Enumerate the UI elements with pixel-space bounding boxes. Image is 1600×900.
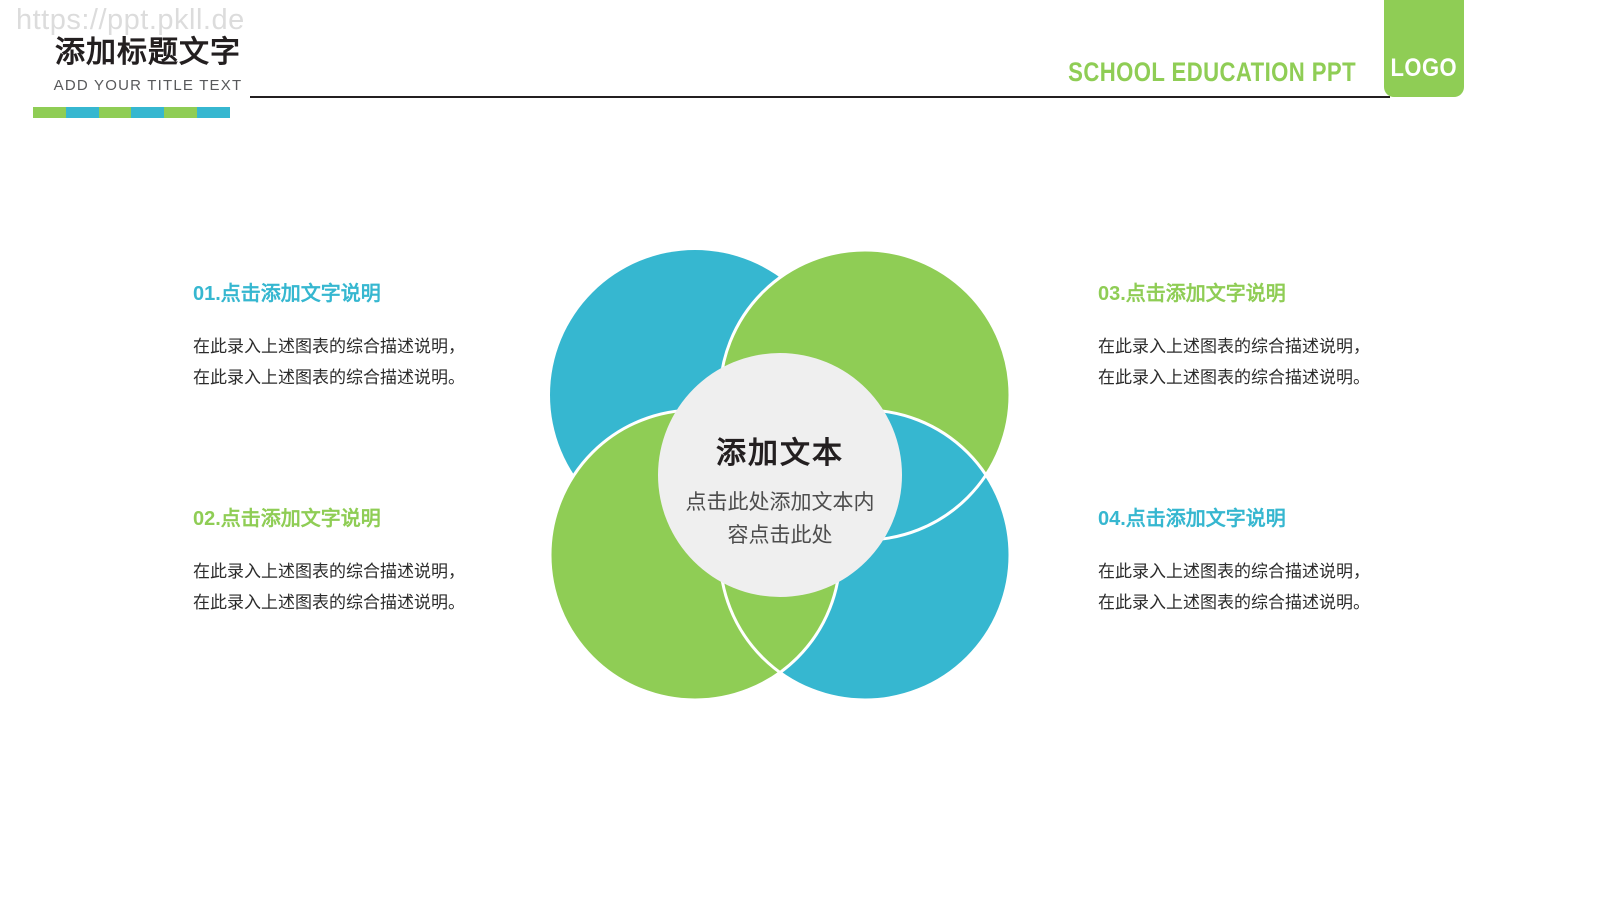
slide-header: 添加标题文字 ADD YOUR TITLE TEXT SCHOOL EDUCAT… xyxy=(0,0,1600,125)
info-item-01-body: 在此录入上述图表的综合描述说明， 在此录入上述图表的综合描述说明。 xyxy=(193,332,533,395)
page-subtitle: ADD YOUR TITLE TEXT xyxy=(33,77,263,94)
info-item-04-body-line1: 在此录入上述图表的综合描述说明， xyxy=(1098,557,1438,588)
color-bar-segment-4 xyxy=(131,107,164,118)
info-item-02-body: 在此录入上述图表的综合描述说明， 在此录入上述图表的综合描述说明。 xyxy=(193,557,533,620)
accent-color-bar xyxy=(33,107,230,118)
info-item-04-heading: 04.点击添加文字说明 xyxy=(1098,507,1438,531)
petal-diagram-svg xyxy=(520,230,1040,720)
info-item-02-body-line2: 在此录入上述图表的综合描述说明。 xyxy=(193,588,533,619)
logo-badge: LOGO xyxy=(1384,0,1464,97)
info-item-03-body: 在此录入上述图表的综合描述说明， 在此录入上述图表的综合描述说明。 xyxy=(1098,332,1438,395)
color-bar-segment-2 xyxy=(66,107,99,118)
info-item-01: 01.点击添加文字说明 在此录入上述图表的综合描述说明， 在此录入上述图表的综合… xyxy=(193,282,533,395)
info-item-01-body-line2: 在此录入上述图表的综合描述说明。 xyxy=(193,363,533,394)
title-block: 添加标题文字 ADD YOUR TITLE TEXT xyxy=(33,36,263,94)
four-petal-diagram xyxy=(520,230,1040,720)
header-divider-rule xyxy=(250,96,1390,98)
info-item-04: 04.点击添加文字说明 在此录入上述图表的综合描述说明， 在此录入上述图表的综合… xyxy=(1098,507,1438,620)
logo-label: LOGO xyxy=(1391,54,1458,83)
info-item-04-body: 在此录入上述图表的综合描述说明， 在此录入上述图表的综合描述说明。 xyxy=(1098,557,1438,620)
center-circle[interactable] xyxy=(658,353,902,597)
info-item-02-heading: 02.点击添加文字说明 xyxy=(193,507,533,531)
info-item-03-body-line1: 在此录入上述图表的综合描述说明， xyxy=(1098,332,1438,363)
color-bar-segment-5 xyxy=(164,107,197,118)
color-bar-segment-1 xyxy=(33,107,66,118)
info-item-02-body-line1: 在此录入上述图表的综合描述说明， xyxy=(193,557,533,588)
info-item-04-body-line2: 在此录入上述图表的综合描述说明。 xyxy=(1098,588,1438,619)
info-item-01-body-line1: 在此录入上述图表的综合描述说明， xyxy=(193,332,533,363)
info-item-02: 02.点击添加文字说明 在此录入上述图表的综合描述说明， 在此录入上述图表的综合… xyxy=(193,507,533,620)
info-item-03-heading: 03.点击添加文字说明 xyxy=(1098,282,1438,306)
color-bar-segment-6 xyxy=(197,107,230,118)
page-title: 添加标题文字 xyxy=(33,36,263,71)
info-item-03-body-line2: 在此录入上述图表的综合描述说明。 xyxy=(1098,363,1438,394)
info-item-03: 03.点击添加文字说明 在此录入上述图表的综合描述说明， 在此录入上述图表的综合… xyxy=(1098,282,1438,395)
header-tagline: SCHOOL EDUCATION PPT xyxy=(1068,57,1356,88)
color-bar-segment-3 xyxy=(99,107,132,118)
info-item-01-heading: 01.点击添加文字说明 xyxy=(193,282,533,306)
